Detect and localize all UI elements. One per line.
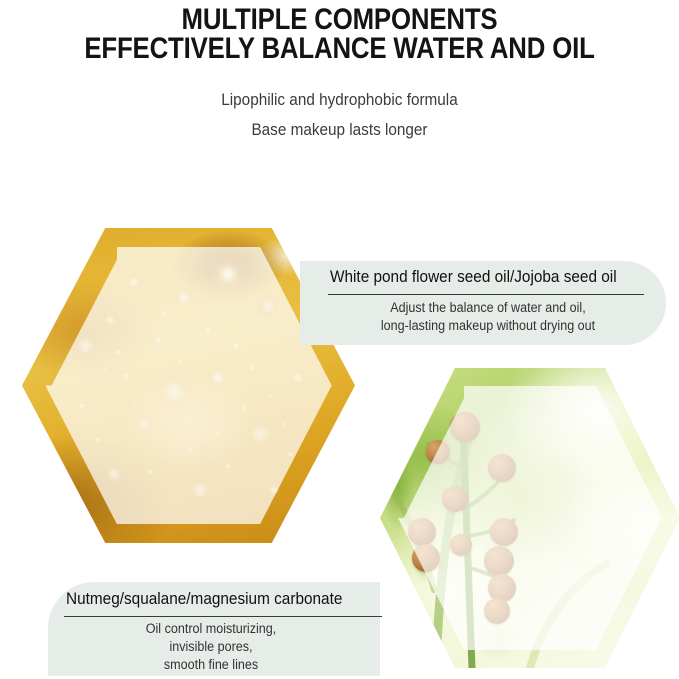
- callout-body-line-3: smooth fine lines: [67, 656, 355, 674]
- headline-line-2: EFFECTIVELY BALANCE WATER AND OIL: [48, 33, 632, 65]
- callout-title-underline: [64, 616, 382, 617]
- subtitle-line-1: Lipophilic and hydrophobic formula: [34, 90, 645, 110]
- callout-title-underline: [328, 294, 644, 295]
- callout-body: Adjust the balance of water and oil, lon…: [330, 299, 646, 335]
- callout-body-line-1: Adjust the balance of water and oil,: [330, 299, 646, 317]
- callout-body: Oil control moisturizing, invisible pore…: [67, 620, 355, 675]
- product-feature-graphic: MULTIPLE COMPONENTS EFFECTIVELY BALANCE …: [0, 0, 679, 679]
- plant-hexagon-image: [380, 368, 679, 668]
- callout-body-line-2: invisible pores,: [67, 638, 355, 656]
- callout-panel-bottom-left: Nutmeg/squalane/magnesium carbonate Oil …: [48, 582, 380, 676]
- subtitle-line-2: Base makeup lasts longer: [34, 120, 645, 140]
- callout-title: White pond flower seed oil/Jojoba seed o…: [330, 268, 617, 287]
- callout-body-line-1: Oil control moisturizing,: [67, 620, 355, 638]
- callout-panel-top-right: White pond flower seed oil/Jojoba seed o…: [300, 261, 666, 345]
- callout-body-line-2: long-lasting makeup without drying out: [330, 317, 646, 335]
- callout-title: Nutmeg/squalane/magnesium carbonate: [66, 590, 342, 609]
